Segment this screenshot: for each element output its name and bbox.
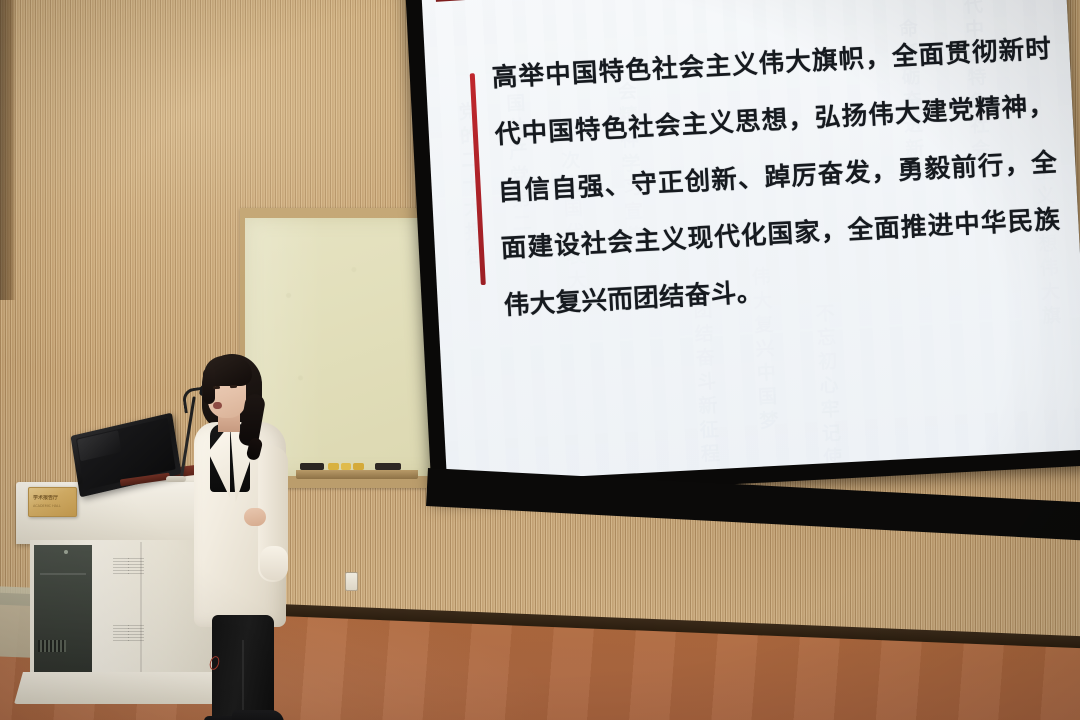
lecture-hall-scene: 党的二十大报告 中国共产党第二 十次全国代表大 会精神学习宣传 团结奋斗新征程 … bbox=[0, 0, 1080, 720]
louver-vent-icon bbox=[113, 558, 129, 574]
podium-equipment-panel[interactable] bbox=[34, 545, 92, 673]
eraser-icon[interactable] bbox=[300, 463, 324, 470]
hand bbox=[244, 508, 266, 526]
watermark-column: 不忘初心牢记使 bbox=[810, 303, 846, 472]
podium-plaque: 学术报告厅 ACADEMIC HALL bbox=[28, 487, 77, 517]
projection-screen: 党的二十大报告 中国共产党第二 十次全国代表大 会精神学习宣传 团结奋斗新征程 … bbox=[404, 0, 1080, 500]
slide-body-text: 高举中国特色社会主义伟大旗帜，全面贯彻新时代中国特色社会主义思想，弘扬伟大建党精… bbox=[491, 21, 1065, 335]
plaque-title: 学术报告厅 bbox=[33, 495, 73, 502]
power-led-icon bbox=[64, 550, 68, 554]
louver-vent-icon bbox=[128, 558, 144, 574]
eye-right bbox=[230, 385, 237, 388]
louver-vent-icon bbox=[113, 625, 129, 641]
marker-icon[interactable] bbox=[328, 463, 339, 470]
presenter bbox=[186, 350, 296, 710]
vent-icon bbox=[38, 640, 66, 652]
leg-separation bbox=[242, 640, 244, 720]
microphone-base bbox=[166, 476, 186, 482]
whiteboard-marker-tray bbox=[296, 470, 418, 479]
wall-outlet-icon[interactable] bbox=[345, 572, 358, 591]
eye-left bbox=[213, 386, 220, 389]
marker-icon[interactable] bbox=[353, 463, 364, 470]
sleeve-cuff bbox=[260, 546, 288, 580]
wall-shadow-left bbox=[0, 0, 16, 300]
eraser-icon[interactable] bbox=[375, 463, 401, 470]
louver-vent-icon bbox=[128, 625, 144, 641]
projection-slide: 党的二十大报告 中国共产党第二 十次全国代表大 会精神学习宣传 团结奋斗新征程 … bbox=[421, 0, 1080, 483]
mouth bbox=[213, 402, 222, 409]
plaque-subtitle: ACADEMIC HALL bbox=[33, 504, 73, 509]
panel-seam bbox=[40, 573, 86, 575]
marker-icon[interactable] bbox=[341, 463, 351, 470]
boot-right bbox=[232, 710, 284, 720]
